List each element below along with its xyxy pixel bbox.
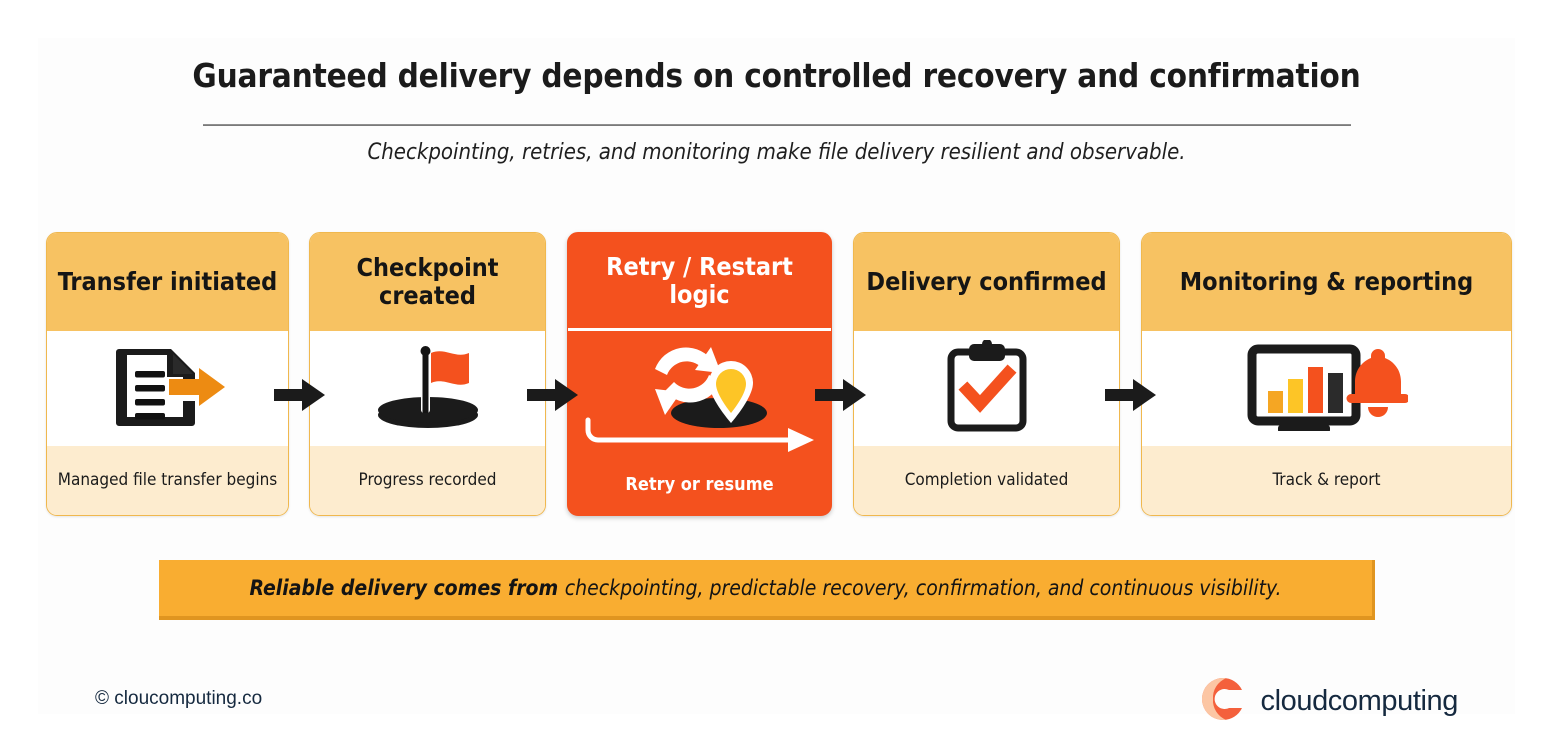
page-subtitle: Checkpointing, retries, and monitoring m…	[0, 140, 1553, 165]
brand-logo-text: cloudcomputing	[1260, 685, 1458, 718]
step-title: Delivery confirmed	[866, 268, 1106, 296]
step-card-header: Checkpoint created	[310, 233, 545, 331]
step-card-body	[568, 331, 831, 450]
summary-banner-lead: Reliable delivery comes from	[249, 576, 564, 600]
step-card-body	[310, 331, 545, 446]
brand-logo[interactable]: cloudcomputing	[1199, 676, 1458, 727]
summary-banner-rest: checkpointing, predictable recovery, con…	[565, 576, 1282, 600]
step-caption: Progress recorded	[359, 470, 497, 490]
step-card-footer: Completion validated	[854, 446, 1119, 515]
clipboard-check-icon	[941, 340, 1033, 437]
step-card-footer: Track & report	[1142, 446, 1511, 515]
summary-banner-text: Reliable delivery comes from checkpointi…	[249, 576, 1281, 600]
copyright-text: © cloucomputing.co	[95, 688, 262, 710]
step-card-body	[1142, 331, 1511, 446]
step-card-monitoring-reporting[interactable]: Monitoring & reporting	[1141, 232, 1512, 516]
step-card-delivery-confirmed[interactable]: Delivery confirmed Completion validated	[853, 232, 1120, 516]
step-caption: Retry or resume	[625, 474, 773, 496]
step-card-header: Monitoring & reporting	[1142, 233, 1511, 331]
monitor-chart-bell-icon	[1246, 341, 1408, 436]
step-card-footer: Managed file transfer begins	[47, 446, 288, 515]
title-divider	[203, 124, 1351, 126]
document-transfer-icon	[109, 343, 227, 434]
process-steps-row: Transfer initiated Managed file t	[46, 232, 1512, 516]
step-caption: Completion validated	[905, 470, 1069, 490]
step-card-checkpoint-created[interactable]: Checkpoint created Progress recorded	[309, 232, 546, 516]
summary-banner: Reliable delivery comes from checkpointi…	[159, 560, 1375, 620]
page-title: Guaranteed delivery depends on controlle…	[0, 56, 1553, 95]
step-title: Transfer initiated	[58, 268, 277, 296]
infographic-root: Guaranteed delivery depends on controlle…	[0, 0, 1553, 752]
step-card-body	[47, 331, 288, 446]
step-card-footer: Retry or resume	[568, 450, 831, 516]
cloudcomputing-c-mark-icon	[1199, 676, 1247, 727]
step-card-header: Retry / Restart logic	[568, 233, 831, 331]
retry-loop-arrow-icon	[582, 414, 822, 454]
step-card-header: Delivery confirmed	[854, 233, 1119, 331]
step-card-header: Transfer initiated	[47, 233, 288, 331]
step-card-transfer-initiated[interactable]: Transfer initiated Managed file t	[46, 232, 289, 516]
step-title: Retry / Restart logic	[576, 253, 823, 309]
step-card-body	[854, 331, 1119, 446]
step-card-footer: Progress recorded	[310, 446, 545, 515]
step-card-retry-restart-logic[interactable]: Retry / Restart logic	[567, 232, 832, 516]
flag-marker-icon	[369, 341, 487, 436]
step-title: Checkpoint created	[318, 254, 537, 310]
step-caption: Track & report	[1272, 470, 1380, 490]
step-title: Monitoring & reporting	[1180, 268, 1474, 296]
step-caption: Managed file transfer begins	[58, 470, 277, 490]
